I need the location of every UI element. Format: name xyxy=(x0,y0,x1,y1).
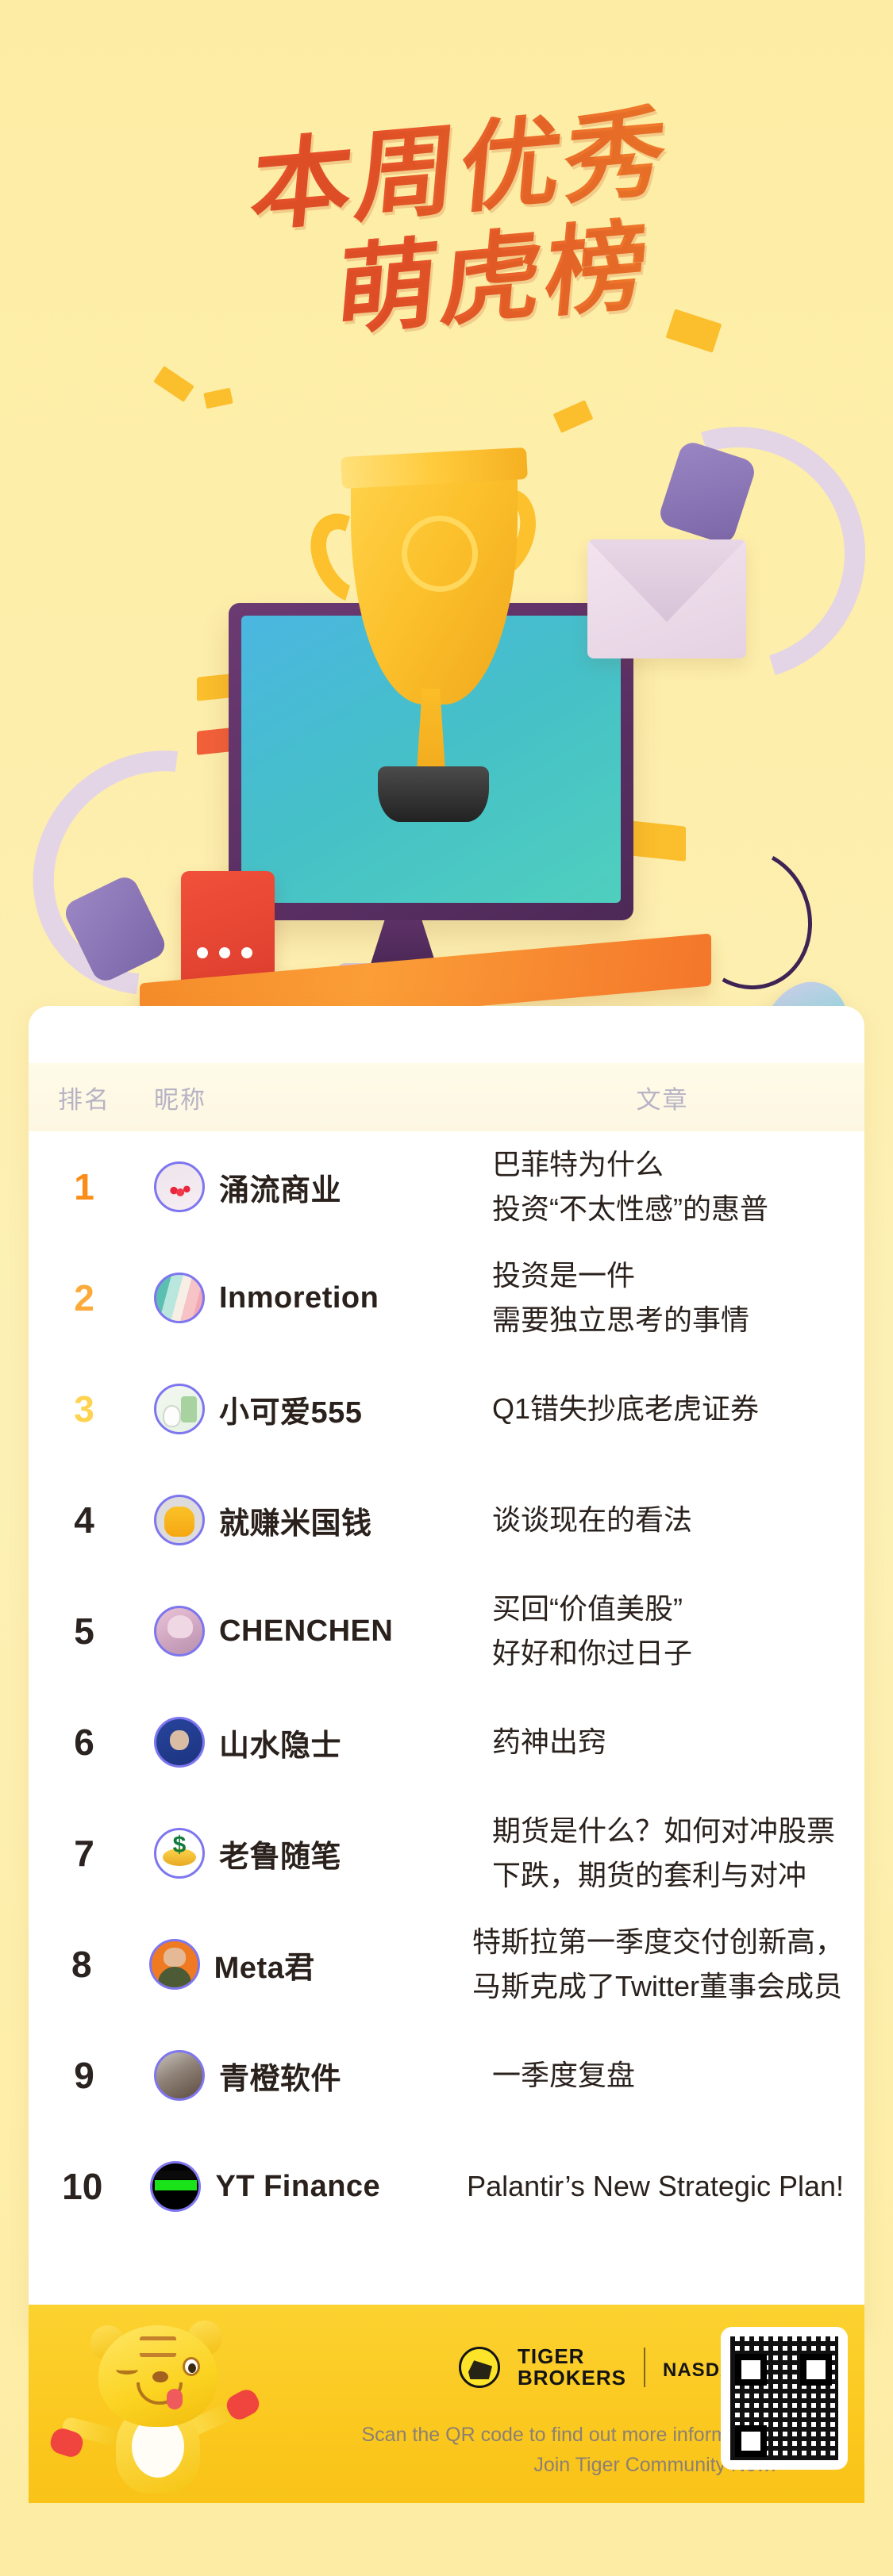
table-row[interactable]: 2 Inmoretion 投资是一件 需要独立思考的事情 xyxy=(29,1242,864,1353)
table-row[interactable]: 3 小可爱555 Q1错失抄底老虎证券 xyxy=(29,1353,864,1465)
nickname-value: 老鲁随笔 xyxy=(219,1832,341,1875)
article-line: 期货是什么？如何对冲股票 xyxy=(492,1809,844,1853)
article-line: Q1错失抄底老虎证券 xyxy=(492,1387,844,1431)
brand-line-1: TIGER xyxy=(518,2344,584,2368)
brand-line-2: BROKERS xyxy=(518,2366,626,2390)
hero-illustration xyxy=(0,413,893,984)
article-cell: 巴菲特为什么 投资“不太性感”的惠普 xyxy=(481,1142,864,1231)
brand-name: TIGER BROKERS xyxy=(518,2346,626,2390)
nickname-cell: 青橙软件 xyxy=(140,2050,481,2101)
sticky-tab-icon xyxy=(629,820,686,862)
rank-value: 9 xyxy=(29,2054,140,2097)
confetti-icon xyxy=(203,388,233,409)
qr-code[interactable] xyxy=(721,2327,848,2470)
article-cell: 一季度复盘 xyxy=(481,2053,864,2098)
article-line: 好好和你过日子 xyxy=(492,1631,844,1676)
nickname-value: 就赚米国钱 xyxy=(219,1499,372,1542)
footer-banner: TIGER BROKERS NASDAQ：TIGR Scan the QR co… xyxy=(29,2305,864,2503)
nickname-value: CHENCHEN xyxy=(219,1614,393,1649)
trophy-icon xyxy=(262,435,603,927)
title-line-2: 萌虎榜 xyxy=(84,193,893,364)
article-cell: 买回“价值美股” 好好和你过日子 xyxy=(481,1587,864,1676)
brand-divider xyxy=(644,2348,645,2387)
column-header-article: 文章 xyxy=(481,1080,864,1115)
article-cell: 期货是什么？如何对冲股票 下跌，期货的套利与对冲 xyxy=(481,1809,864,1898)
nickname-cell: Meta君 xyxy=(135,1939,461,1990)
article-line: 马斯克成了Twitter董事会成员 xyxy=(472,1964,844,2009)
mascot-nose xyxy=(152,2371,168,2382)
avatar xyxy=(150,2161,201,2212)
rank-value: 10 xyxy=(29,2165,136,2208)
avatar xyxy=(154,1717,205,1768)
avatar xyxy=(149,1939,200,1990)
qr-finder-icon xyxy=(800,2354,832,2386)
table-row[interactable]: 5 CHENCHEN 买回“价值美股” 好好和你过日子 xyxy=(29,1576,864,1687)
mascot-wink-eye xyxy=(116,2365,138,2374)
rank-value: 6 xyxy=(29,1721,140,1764)
rank-value: 4 xyxy=(29,1499,140,1541)
rank-value: 3 xyxy=(29,1388,140,1430)
article-line: 买回“价值美股” xyxy=(492,1587,844,1631)
trophy-badge xyxy=(402,516,478,592)
ellipsis-icon xyxy=(197,947,252,958)
qr-finder-icon xyxy=(735,2354,767,2386)
nickname-value: Inmoretion xyxy=(219,1281,379,1315)
title-line-1: 本周优秀 xyxy=(17,82,893,259)
nickname-value: Meta君 xyxy=(214,1943,315,1987)
avatar xyxy=(154,1495,205,1545)
table-header-row: 排名 昵称 文章 xyxy=(29,1063,864,1131)
article-line: 投资是一件 xyxy=(492,1253,844,1298)
article-cell: 谈谈现在的看法 xyxy=(481,1498,864,1542)
confetti-icon xyxy=(153,366,194,402)
rank-value: 8 xyxy=(29,1943,135,1986)
tiger-logo-icon xyxy=(459,2347,500,2388)
article-line: 巴菲特为什么 xyxy=(492,1142,844,1187)
avatar xyxy=(154,1161,205,1212)
table-row[interactable]: 1 涌流商业 巴菲特为什么 投资“不太性感”的惠普 xyxy=(29,1131,864,1242)
article-line: 谈谈现在的看法 xyxy=(492,1498,844,1542)
article-line: 需要独立思考的事情 xyxy=(492,1298,844,1342)
table-row[interactable]: 10 YT Finance Palantir’s New Strategic P… xyxy=(29,2131,864,2242)
table-row[interactable]: 6 山水隐士 药神出窍 xyxy=(29,1687,864,1798)
article-line: 药神出窍 xyxy=(492,1720,844,1764)
avatar xyxy=(154,2050,205,2101)
nickname-cell: YT Finance xyxy=(136,2161,467,2212)
article-cell: 特斯拉第一季度交付创新高， 马斯克成了Twitter董事会成员 xyxy=(461,1920,864,2009)
rank-value: 5 xyxy=(29,1610,140,1653)
tagline-line-1: Scan the QR code to find out more inform… xyxy=(291,2421,776,2451)
rank-value: 7 xyxy=(29,1832,140,1875)
nickname-value: 山水隐士 xyxy=(219,1721,341,1764)
table-row[interactable]: 7 老鲁随笔 期货是什么？如何对冲股票 下跌，期货的套利与对冲 xyxy=(29,1798,864,1909)
avatar xyxy=(154,1384,205,1434)
column-header-rank: 排名 xyxy=(29,1080,140,1115)
nickname-value: 青橙软件 xyxy=(219,2054,341,2098)
trophy-foot xyxy=(378,766,489,822)
page-title: 本周优秀 萌虎榜 xyxy=(0,119,893,420)
article-cell: Q1错失抄底老虎证券 xyxy=(481,1387,864,1431)
nickname-cell: 就赚米国钱 xyxy=(140,1495,481,1545)
mascot-tongue xyxy=(167,2389,183,2409)
nickname-cell: 山水隐士 xyxy=(140,1717,481,1768)
tagline-line-2: Join Tiger Community Now! xyxy=(291,2451,776,2481)
leaderboard-card: 排名 昵称 文章 1 涌流商业 巴菲特为什么 投资“不太性感”的惠普 2 Inm… xyxy=(29,1006,864,2331)
tiger-mascot-icon xyxy=(64,2316,246,2500)
avatar xyxy=(154,1828,205,1879)
footer-tagline: Scan the QR code to find out more inform… xyxy=(291,2421,776,2480)
table-row[interactable]: 4 就赚米国钱 谈谈现在的看法 xyxy=(29,1465,864,1576)
nickname-cell: CHENCHEN xyxy=(140,1606,481,1657)
qr-finder-icon xyxy=(735,2425,767,2457)
hero-banner: 本周优秀 萌虎榜 xyxy=(0,0,893,1000)
mascot-open-eye xyxy=(183,2357,200,2376)
nickname-value: 涌流商业 xyxy=(219,1165,341,1209)
article-line: Palantir’s New Strategic Plan! xyxy=(467,2164,844,2209)
rank-value: 1 xyxy=(29,1165,140,1208)
rank-value: 2 xyxy=(29,1276,140,1319)
article-line: 投资“不太性感”的惠普 xyxy=(492,1187,844,1231)
avatar xyxy=(154,1606,205,1657)
article-line: 特斯拉第一季度交付创新高， xyxy=(472,1920,844,1964)
nickname-cell: 老鲁随笔 xyxy=(140,1828,481,1879)
nickname-cell: Inmoretion xyxy=(140,1273,481,1323)
article-cell: 投资是一件 需要独立思考的事情 xyxy=(481,1253,864,1342)
nickname-cell: 小可爱555 xyxy=(140,1384,481,1434)
article-line: 一季度复盘 xyxy=(492,2053,844,2098)
article-cell: 药神出窍 xyxy=(481,1720,864,1764)
mascot-forehead-stripe xyxy=(140,2336,176,2357)
column-header-nickname: 昵称 xyxy=(140,1080,481,1115)
table-row[interactable]: 9 青橙软件 一季度复盘 xyxy=(29,2020,864,2131)
nickname-value: 小可爱555 xyxy=(219,1388,362,1431)
nickname-value: YT Finance xyxy=(215,2170,380,2204)
avatar xyxy=(154,1273,205,1323)
nickname-cell: 涌流商业 xyxy=(140,1161,481,1212)
article-line: 下跌，期货的套利与对冲 xyxy=(492,1853,844,1898)
table-row[interactable]: 8 Meta君 特斯拉第一季度交付创新高， 马斯克成了Twitter董事会成员 xyxy=(29,1909,864,2020)
confetti-icon xyxy=(666,309,722,352)
article-cell: Palantir’s New Strategic Plan! xyxy=(467,2164,864,2209)
